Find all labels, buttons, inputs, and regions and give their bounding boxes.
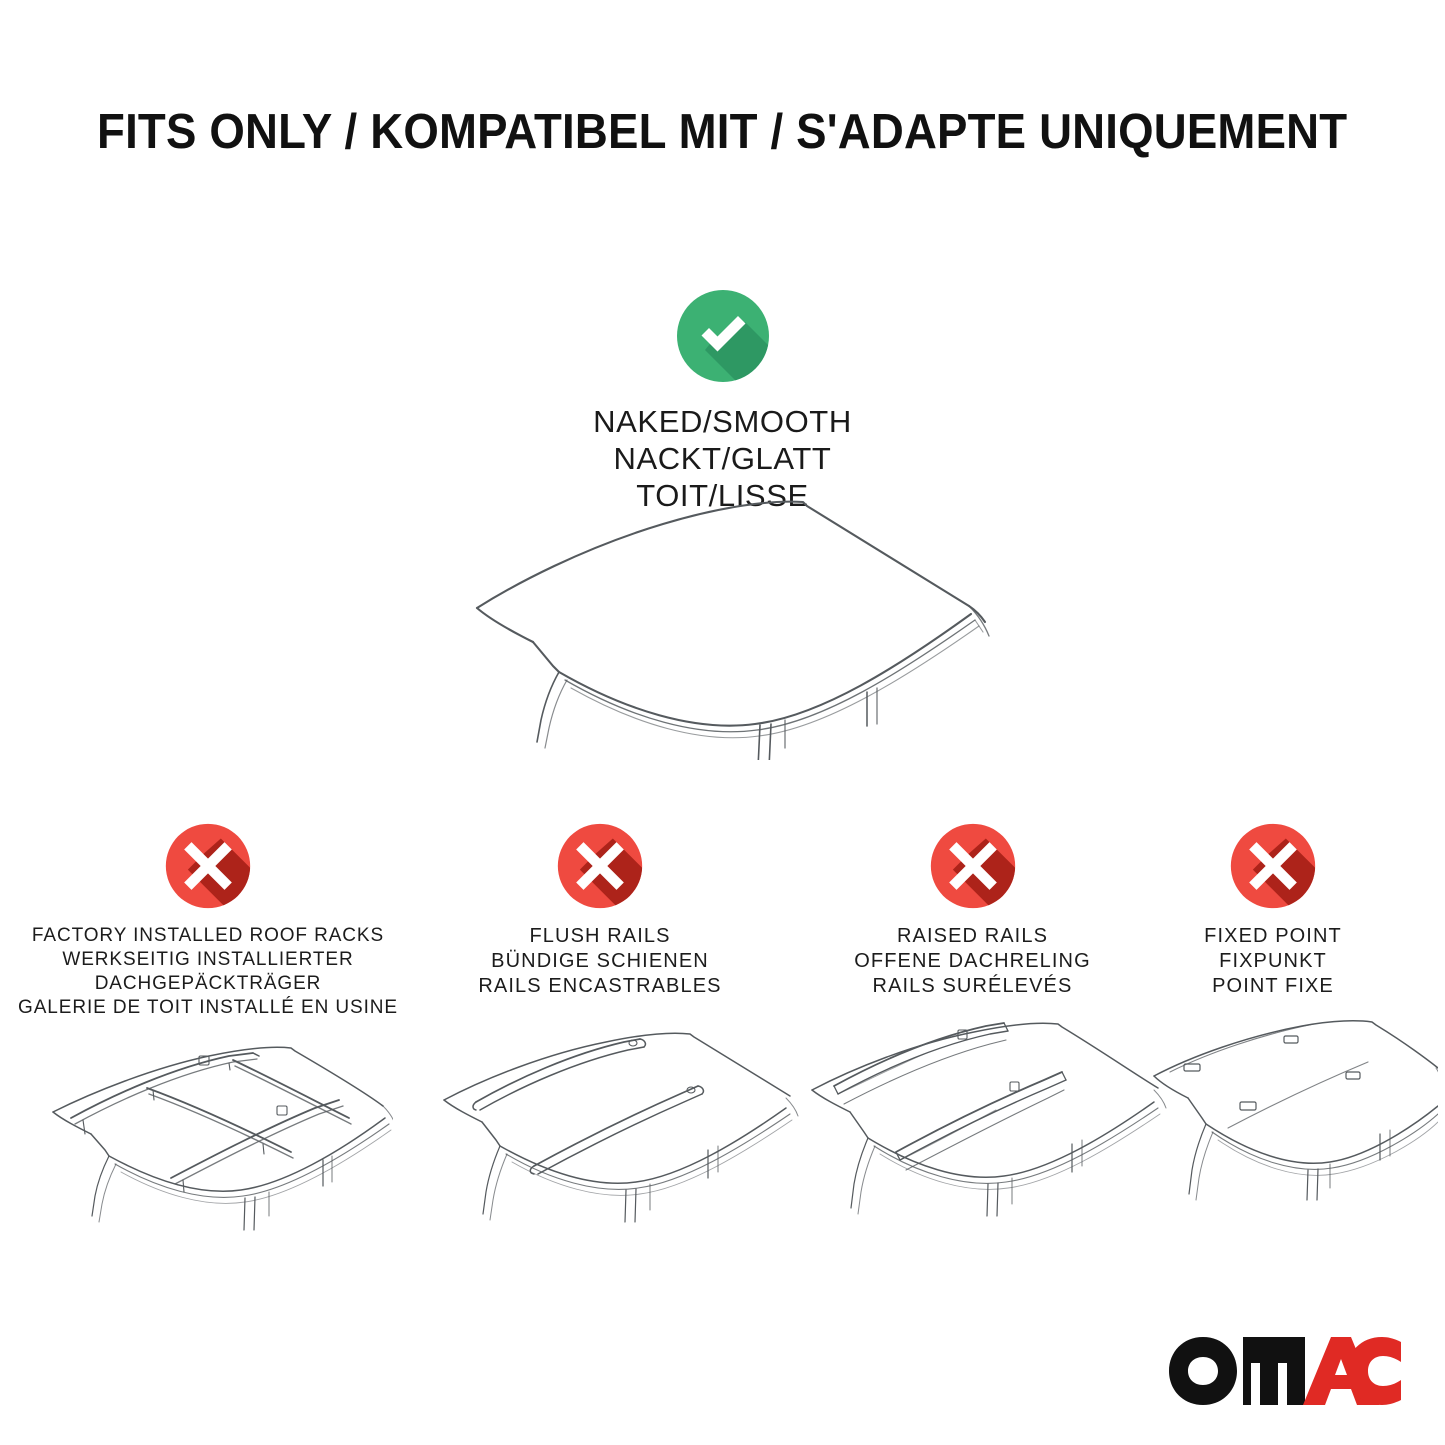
label-line-1: RAISED RAILS — [800, 924, 1145, 949]
label-line-3: RAILS ENCASTRABLES — [430, 974, 770, 999]
incompatible-labels: RAISED RAILS OFFENE DACHRELING RAILS SUR… — [800, 924, 1145, 999]
cross-circle-icon — [800, 822, 1145, 918]
page-title: FITS ONLY / KOMPATIBEL MIT / S'ADAPTE UN… — [97, 104, 1347, 160]
incompatible-item-factory-rack: FACTORY INSTALLED ROOF RACKS WERKSEITIG … — [8, 822, 408, 1020]
label-line-2: FIXPUNKT — [1148, 949, 1398, 974]
cross-circle-icon — [430, 822, 770, 918]
incompatible-item-raised-rails: RAISED RAILS OFFENE DACHRELING RAILS SUR… — [800, 822, 1145, 999]
incompatible-labels: FACTORY INSTALLED ROOF RACKS WERKSEITIG … — [8, 924, 408, 1020]
label-line-2: OFFENE DACHRELING — [800, 949, 1145, 974]
label-line-2: WERKSEITIG INSTALLIERTER — [8, 948, 408, 972]
incompatible-grid: FACTORY INSTALLED ROOF RACKS WERKSEITIG … — [0, 822, 1445, 1292]
label-line-1: FIXED POINT — [1148, 924, 1398, 949]
label-line-3: POINT FIXE — [1148, 974, 1398, 999]
car-roof-factory-rack-illustration — [8, 1020, 408, 1260]
compatible-label-en: NAKED/SMOOTH — [0, 403, 1445, 440]
check-circle-icon — [0, 288, 1445, 389]
page-title-bar: FITS ONLY / KOMPATIBEL MIT / S'ADAPTE UN… — [0, 104, 1445, 160]
label-line-1: FLUSH RAILS — [430, 924, 770, 949]
car-roof-naked-smooth-illustration — [455, 480, 1015, 760]
car-roof-flush-rails-illustration — [430, 1020, 770, 1260]
car-roof-fixed-point-illustration — [1148, 1020, 1398, 1260]
cross-circle-icon — [1148, 822, 1398, 918]
cross-circle-icon — [8, 822, 408, 918]
incompatible-item-flush-rails: FLUSH RAILS BÜNDIGE SCHIENEN RAILS ENCAS… — [430, 822, 770, 999]
incompatible-labels: FLUSH RAILS BÜNDIGE SCHIENEN RAILS ENCAS… — [430, 924, 770, 999]
omac-logo — [1165, 1333, 1405, 1409]
label-line-2: BÜNDIGE SCHIENEN — [430, 949, 770, 974]
incompatible-item-fixed-point: FIXED POINT FIXPUNKT POINT FIXE — [1148, 822, 1398, 999]
label-line-1: FACTORY INSTALLED ROOF RACKS — [8, 924, 408, 948]
label-line-4: GALERIE DE TOIT INSTALLÉ EN USINE — [8, 996, 408, 1020]
car-roof-raised-rails-illustration — [800, 1020, 1145, 1260]
label-line-3: RAILS SURÉLEVÉS — [800, 974, 1145, 999]
compatible-label-de: NACKT/GLATT — [0, 440, 1445, 477]
label-line-3: DACHGEPÄCKTRÄGER — [8, 972, 408, 996]
incompatible-labels: FIXED POINT FIXPUNKT POINT FIXE — [1148, 924, 1398, 999]
